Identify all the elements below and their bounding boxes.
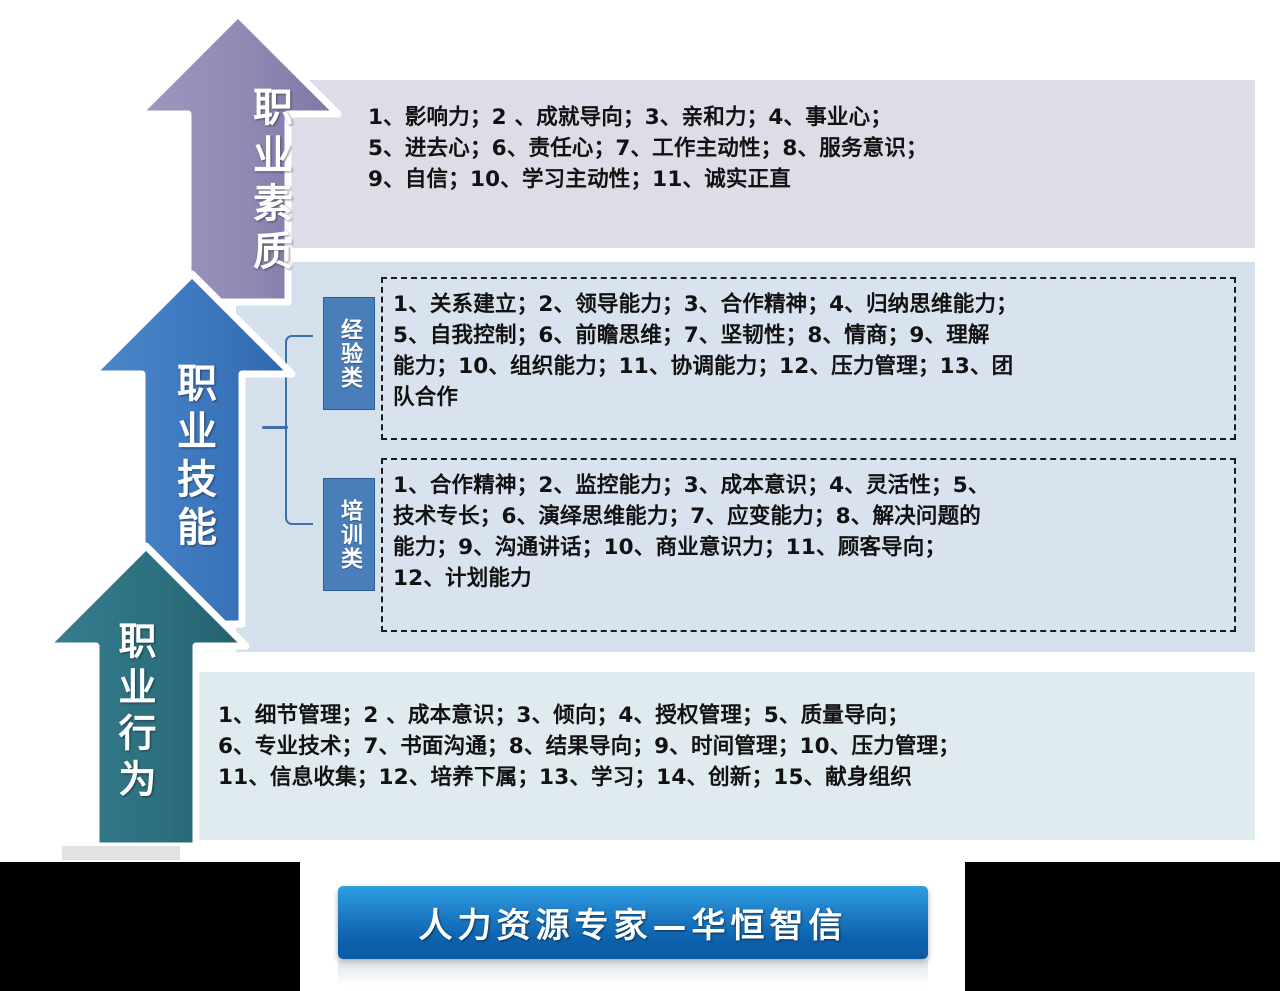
training-group-box: 1、合作精神；2、监控能力；3、成本意识；4、灵活性；5、 技术专长；6、演绎思… [381,458,1236,632]
chip-experience-category[interactable]: 经验类 [323,297,375,410]
arrow-quality-label: 职业素质 [236,72,298,292]
image-artifact [62,846,180,860]
brand-banner-reflection [338,960,928,986]
training-competency-list: 1、合作精神；2、监控能力；3、成本意识；4、灵活性；5、 技术专长；6、演绎思… [383,460,1234,594]
experience-group-box: 1、关系建立；2、领导能力；3、合作精神；4、归纳思维能力； 5、自我控制；6、… [381,277,1236,440]
experience-competency-list: 1、关系建立；2、领导能力；3、合作精神；4、归纳思维能力； 5、自我控制；6、… [383,279,1234,413]
brand-banner[interactable]: 人力资源专家—华恒智信 [338,886,928,959]
diagram-canvas: 1、影响力；2 、成就导向；3、亲和力；4、事业心； 5、进去心；6、责任心；7… [0,0,1280,991]
arrow-behavior-label: 职业行为 [104,588,162,838]
chip-training-category[interactable]: 培训类 [323,478,375,591]
quality-competency-list: 1、影响力；2 、成就导向；3、亲和力；4、事业心； 5、进去心；6、责任心；7… [368,102,1238,195]
behavior-competency-list: 1、细节管理；2 、成本意识；3、倾向；4、授权管理；5、质量导向； 6、专业技… [218,700,1248,793]
brand-banner-text: 人力资源专家—华恒智信 [419,898,848,947]
